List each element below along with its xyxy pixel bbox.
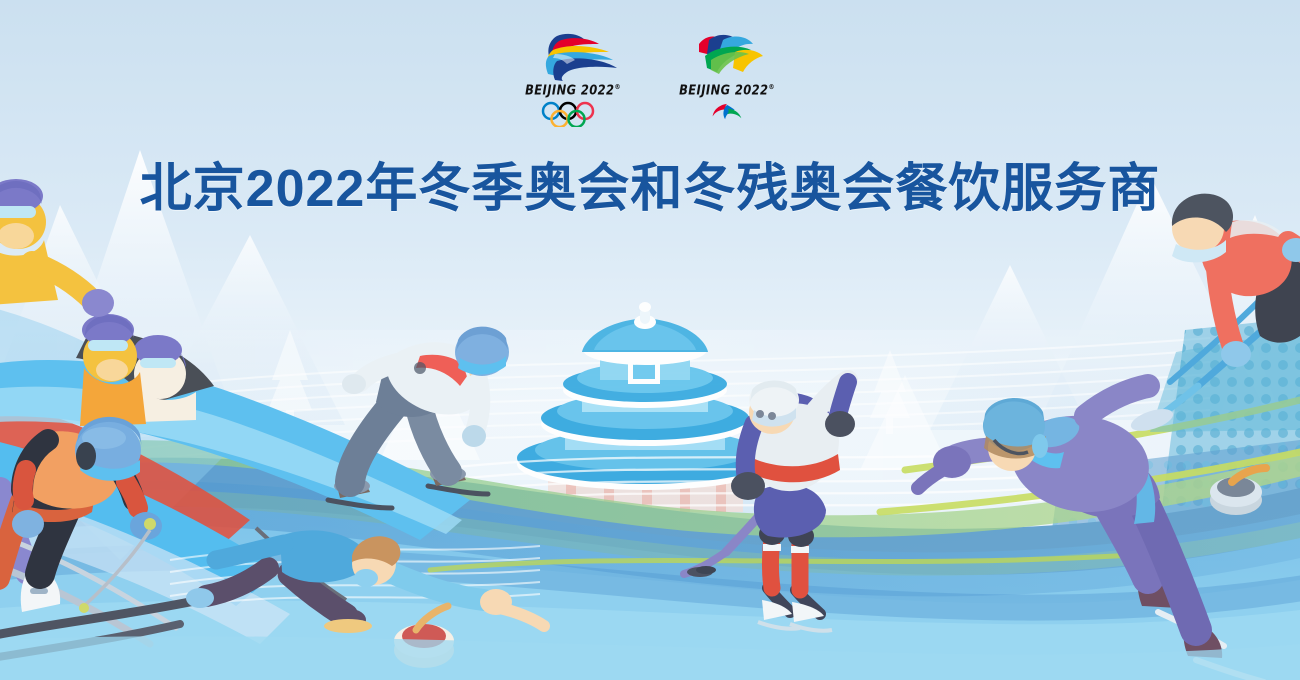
olympic-banner: BEIJING 2022® (0, 0, 1300, 680)
athlete-curler-sweeper (1128, 194, 1300, 515)
olympic-rings-icon (540, 101, 606, 127)
beijing-2022-paralympic-logo: BEIJING 2022® (674, 30, 780, 124)
page-title: 北京2022年冬季奥会和冬残奥会餐饮服务商 (0, 146, 1300, 221)
beijing-2022-olympic-logo: BEIJING 2022® (520, 30, 626, 127)
athlete-alpine-skier (0, 417, 200, 660)
paralympic-agitos-icon (706, 102, 748, 124)
paralympic-wordmark: BEIJING 2022® (679, 84, 775, 97)
paralympic-emblem-icon (677, 30, 777, 82)
olympic-emblem-icon (523, 30, 623, 82)
athlete-ice-hockey-player (684, 380, 855, 631)
logo-row: BEIJING 2022® (0, 30, 1300, 136)
olympic-wordmark: BEIJING 2022® (525, 84, 621, 97)
